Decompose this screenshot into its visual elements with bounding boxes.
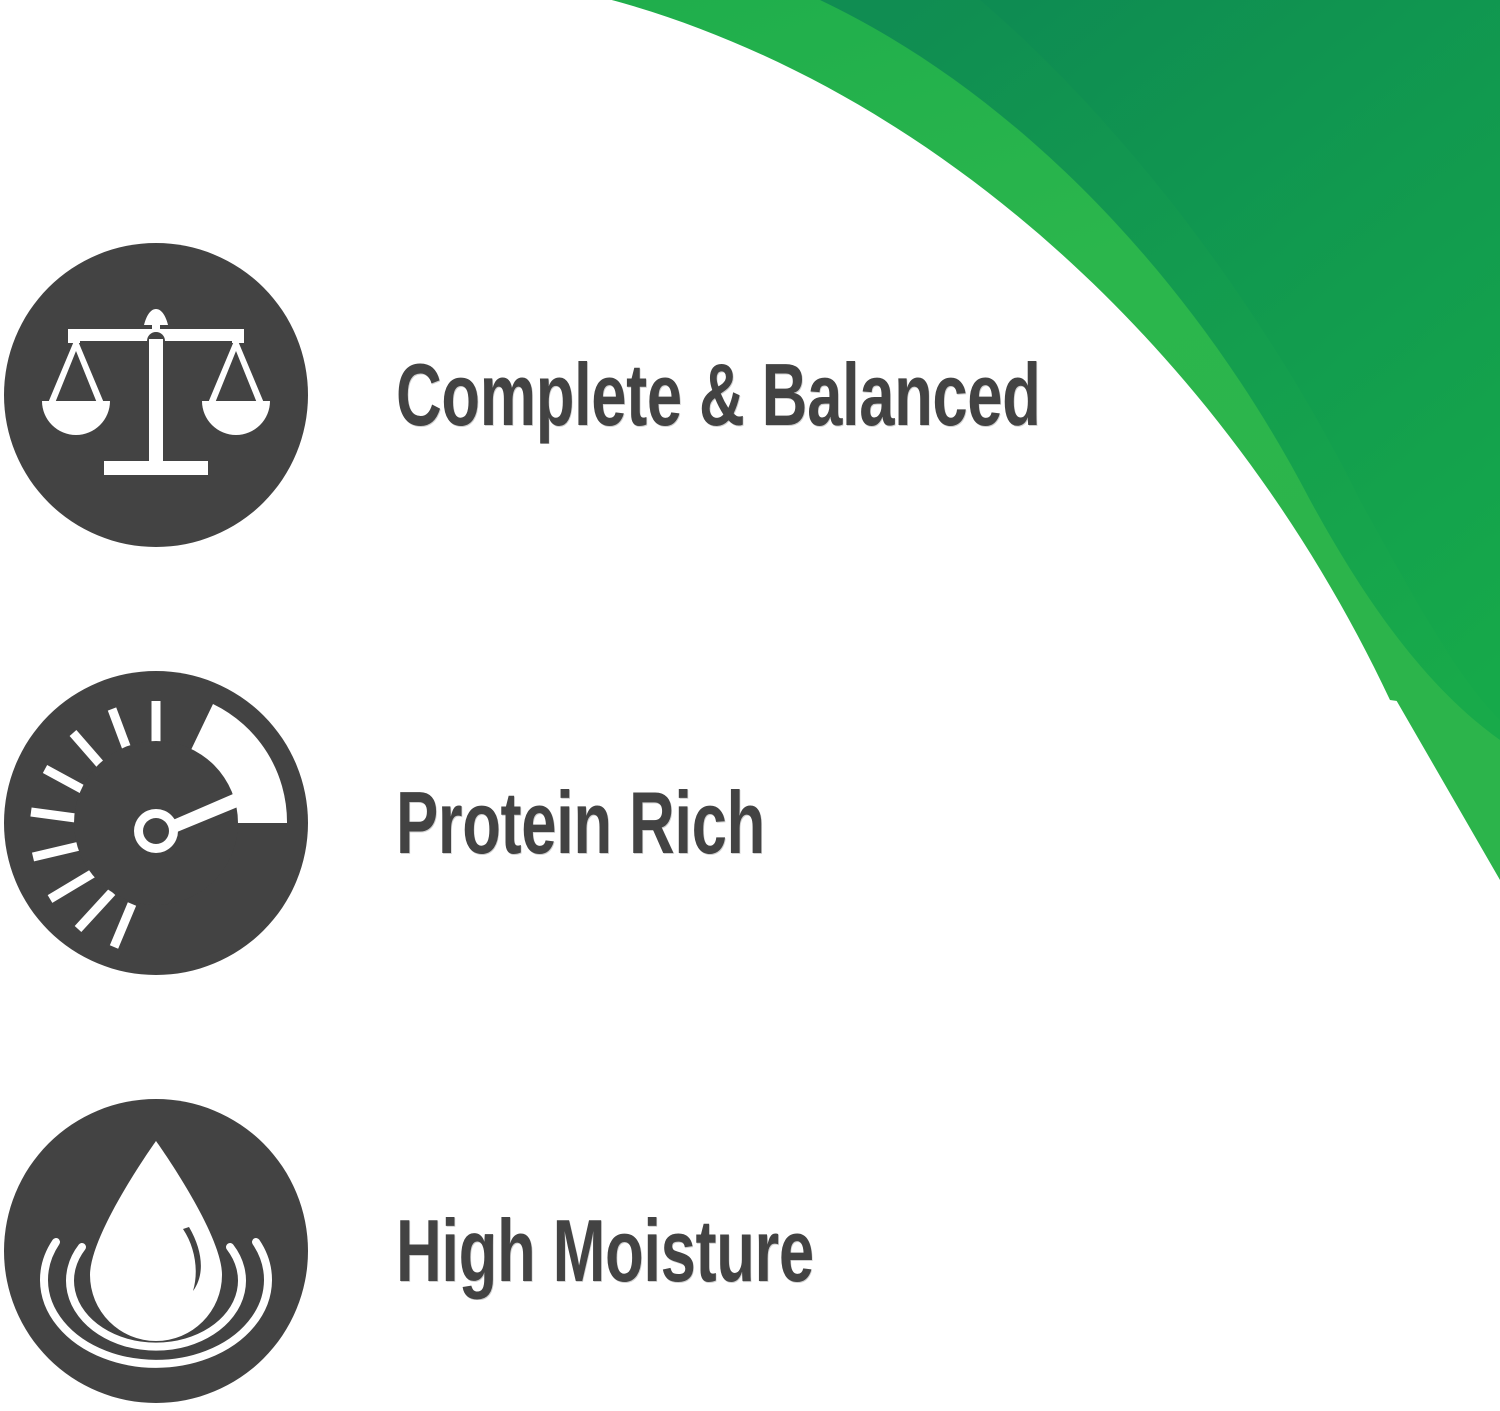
- product-feature-panel: Complete & Balanced: [0, 0, 1500, 1411]
- water-droplet-ripple-icon: [4, 1099, 308, 1403]
- balance-scale-icon: [4, 243, 308, 547]
- gauge-speedometer-icon: [4, 671, 308, 975]
- feature-label: High Moisture: [396, 1207, 814, 1295]
- feature-row: Protein Rich: [0, 671, 1200, 975]
- feature-row: High Moisture: [0, 1099, 1200, 1403]
- feature-row: Complete & Balanced: [0, 243, 1200, 547]
- feature-label: Protein Rich: [396, 779, 765, 867]
- feature-label: Complete & Balanced: [396, 351, 1041, 439]
